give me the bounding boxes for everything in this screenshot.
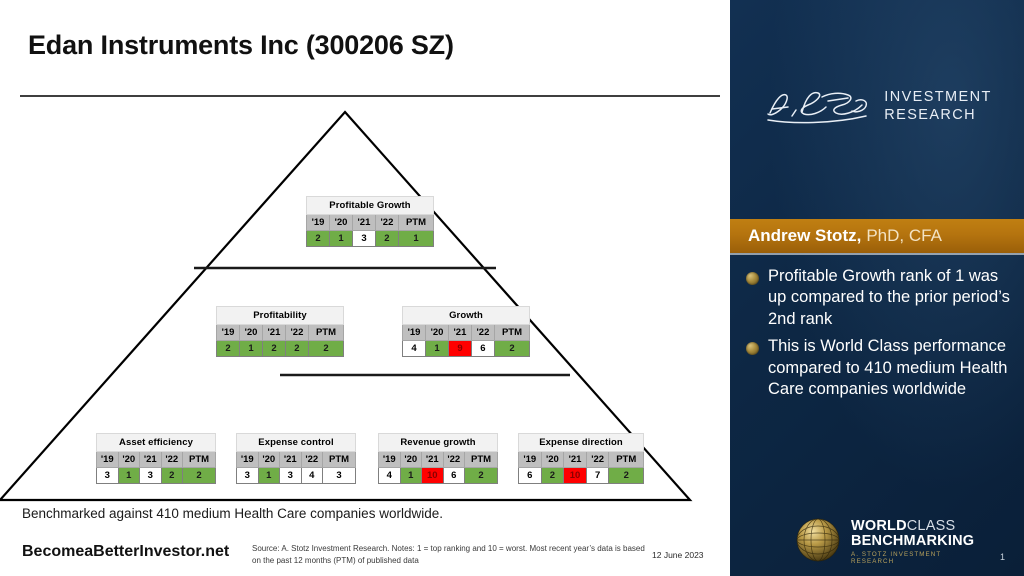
worldclass-logo-words: WORLDCLASS BENCHMARKING A. STOTZ INVESTM… [851,519,985,566]
col-22: '22 [586,452,609,468]
col-19: '19 [379,452,401,468]
table-profitability: Profitability '19 '20 '21 '22 PTM 2 1 2 … [216,306,344,357]
col-20: '20 [118,452,140,468]
page-title: Edan Instruments Inc (300206 SZ) [28,30,454,61]
table-title: Growth [403,307,530,325]
table-title: Revenue growth [379,434,498,452]
rank-cell: 3 [352,231,375,247]
col-22: '22 [285,325,308,341]
wc-word-class: CLASS [907,518,956,534]
rank-cell: 7 [586,468,609,484]
table-expense-direction: Expense direction '19 '20 '21 '22 PTM 6 … [518,433,644,484]
benchmark-note: Benchmarked against 410 medium Health Ca… [22,506,443,521]
rank-cell: 2 [161,468,183,484]
table-value-row: 3 1 3 2 2 [97,468,216,484]
rank-cell: 1 [400,468,422,484]
worldclass-benchmarking-logo: WORLDCLASS BENCHMARKING A. STOTZ INVESTM… [795,516,985,568]
rank-cell: 2 [465,468,498,484]
wc-word-world: WORLD [851,518,907,534]
wc-line-1: WORLDCLASS [851,519,985,535]
col-19: '19 [519,452,542,468]
rank-cell: 2 [307,231,330,247]
bullet-text: This is World Class performance compared… [768,336,1014,400]
rank-cell: 10 [422,468,444,484]
rank-cell: 2 [183,468,216,484]
table-revenue-growth: Revenue growth '19 '20 '21 '22 PTM 4 1 1… [378,433,498,484]
col-21: '21 [280,452,302,468]
col-21: '21 [422,452,444,468]
table-header-row: '19 '20 '21 '22 PTM [237,452,356,468]
col-19: '19 [307,215,330,231]
table-header-row: '19 '20 '21 '22 PTM [307,215,434,231]
rank-cell: 1 [329,231,352,247]
slide-canvas: Edan Instruments Inc (300206 SZ) Profita… [0,0,1024,576]
col-22: '22 [161,452,183,468]
bullet-text: Profitable Growth rank of 1 was up compa… [768,266,1014,330]
rank-cell: 1 [398,231,433,247]
table-title: Profitability [217,307,344,325]
rank-cell: 2 [494,341,529,357]
rank-cell: 2 [541,468,564,484]
col-ptm: PTM [609,452,644,468]
presenter-name-bar: Andrew Stotz, PhD, CFA [730,219,1024,253]
astotz-logo: INVESTMENT RESEARCH [730,72,1024,142]
col-ptm: PTM [323,452,356,468]
rank-cell: 3 [140,468,162,484]
rank-cell: 9 [448,341,471,357]
table-header-row: '19 '20 '21 '22 PTM [379,452,498,468]
col-22: '22 [443,452,465,468]
rank-cell: 6 [471,341,494,357]
table-value-row: 3 1 3 4 3 [237,468,356,484]
bullet-sphere-icon [746,342,759,355]
presenter-credentials: PhD, CFA [866,226,942,246]
rank-cell: 1 [118,468,140,484]
col-19: '19 [97,452,119,468]
table-header-row: '19 '20 '21 '22 PTM [519,452,644,468]
rank-cell: 2 [285,341,308,357]
col-21: '21 [262,325,285,341]
logo-line-research: RESEARCH [884,107,991,125]
table-value-row: 2 1 2 2 2 [217,341,344,357]
astotz-signature-icon [762,83,874,132]
rank-cell: 1 [258,468,280,484]
presenter-name: Andrew Stotz, [748,226,861,246]
table-title: Asset efficiency [97,434,216,452]
col-20: '20 [425,325,448,341]
rank-cell: 10 [564,468,587,484]
source-note: Source: A. Stotz Investment Research. No… [252,543,652,566]
table-title: Expense direction [519,434,644,452]
col-ptm: PTM [308,325,343,341]
list-item: This is World Class performance compared… [746,336,1014,400]
rank-cell: 2 [262,341,285,357]
col-20: '20 [541,452,564,468]
table-header-row: '19 '20 '21 '22 PTM [403,325,530,341]
rank-cell: 2 [375,231,398,247]
rank-cell: 2 [217,341,240,357]
rank-cell: 2 [308,341,343,357]
col-21: '21 [352,215,375,231]
table-expense-control: Expense control '19 '20 '21 '22 PTM 3 1 … [236,433,356,484]
col-22: '22 [471,325,494,341]
rank-cell: 2 [609,468,644,484]
col-21: '21 [564,452,587,468]
col-20: '20 [400,452,422,468]
wc-line-3: A. STOTZ INVESTMENT RESEARCH [851,552,985,565]
logo-line-investment: INVESTMENT [884,89,991,107]
right-panel: INVESTMENT RESEARCH Andrew Stotz, PhD, C… [730,0,1024,576]
col-ptm: PTM [398,215,433,231]
page-number: 1 [1000,552,1005,562]
rank-cell: 4 [403,341,426,357]
rank-cell: 1 [239,341,262,357]
col-19: '19 [237,452,259,468]
col-ptm: PTM [494,325,529,341]
rank-cell: 1 [425,341,448,357]
col-ptm: PTM [465,452,498,468]
col-22: '22 [375,215,398,231]
col-19: '19 [403,325,426,341]
col-22: '22 [301,452,323,468]
bullet-list: Profitable Growth rank of 1 was up compa… [746,266,1014,407]
rank-cell: 6 [443,468,465,484]
table-asset-efficiency: Asset efficiency '19 '20 '21 '22 PTM 3 1… [96,433,216,484]
col-ptm: PTM [183,452,216,468]
globe-icon [795,517,841,568]
rank-cell: 4 [379,468,401,484]
title-divider [20,95,720,97]
table-title: Expense control [237,434,356,452]
col-20: '20 [239,325,262,341]
col-20: '20 [329,215,352,231]
table-title: Profitable Growth [307,197,434,215]
rank-cell: 3 [323,468,356,484]
table-value-row: 4 1 9 6 2 [403,341,530,357]
col-21: '21 [140,452,162,468]
astotz-logo-words: INVESTMENT RESEARCH [884,89,991,124]
col-20: '20 [258,452,280,468]
table-value-row: 2 1 3 2 1 [307,231,434,247]
table-header-row: '19 '20 '21 '22 PTM [217,325,344,341]
slide-date: 12 June 2023 [652,550,704,560]
rank-cell: 3 [237,468,259,484]
table-header-row: '19 '20 '21 '22 PTM [97,452,216,468]
table-profitable-growth: Profitable Growth '19 '20 '21 '22 PTM 2 … [306,196,434,247]
table-growth: Growth '19 '20 '21 '22 PTM 4 1 9 6 2 [402,306,530,357]
rank-cell: 6 [519,468,542,484]
rank-cell: 3 [280,468,302,484]
table-value-row: 4 1 10 6 2 [379,468,498,484]
table-value-row: 6 2 10 7 2 [519,468,644,484]
list-item: Profitable Growth rank of 1 was up compa… [746,266,1014,330]
rank-cell: 3 [97,468,119,484]
col-21: '21 [448,325,471,341]
rank-cell: 4 [301,468,323,484]
bullet-sphere-icon [746,272,759,285]
brand-url[interactable]: BecomeaBetterInvestor.net [22,543,229,561]
col-19: '19 [217,325,240,341]
wc-line-2: BENCHMARKING [851,534,985,550]
